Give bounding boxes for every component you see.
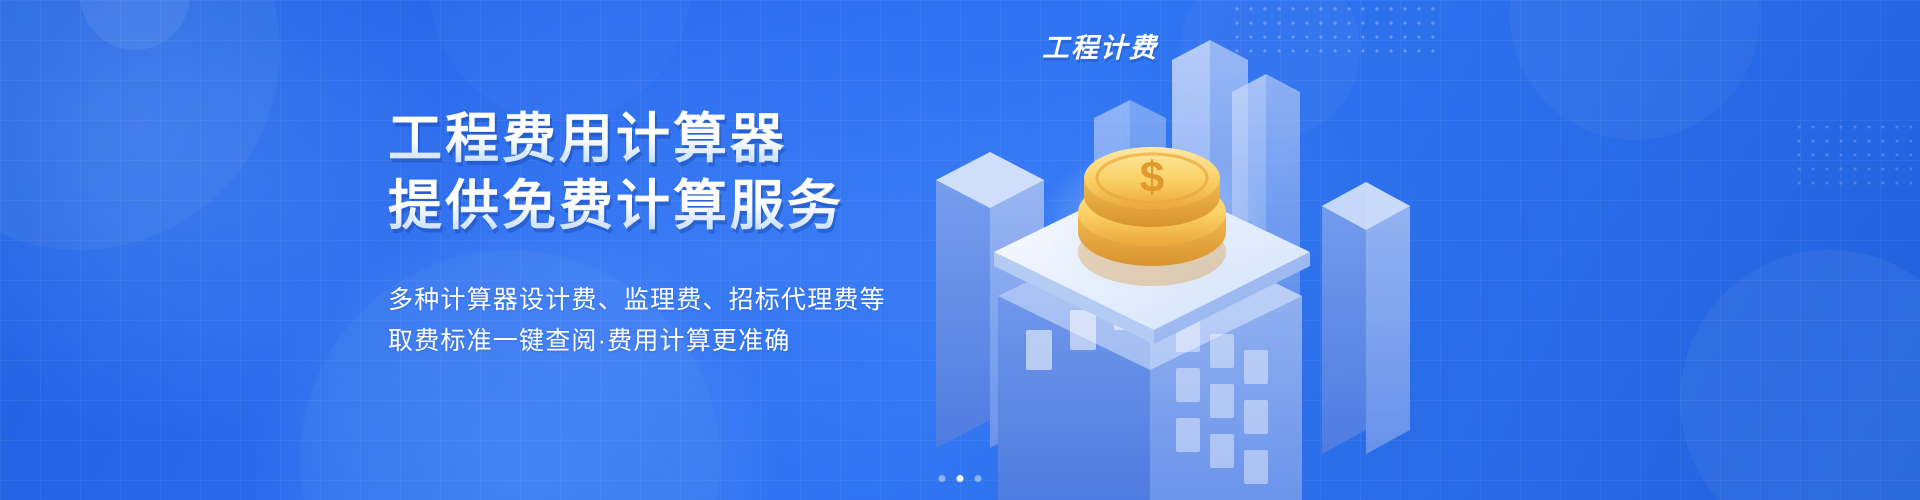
dollar-sign-icon: $ [1140, 153, 1164, 202]
right-tower [1322, 182, 1410, 454]
isometric-illustration: $ 工程计费 [880, 0, 1520, 500]
illustration-svg: $ [880, 0, 1520, 500]
carousel-dot-3[interactable] [975, 475, 982, 482]
illustration-badge-label: 工程计费 [1042, 26, 1158, 65]
promo-banner: 工程费用计算器 提供免费计算服务 多种计算器设计费、监理费、招标代理费等 取费标… [0, 0, 1920, 500]
dot-pattern [1792, 120, 1912, 190]
coin-stack: $ [1078, 147, 1226, 286]
carousel-dot-1[interactable] [939, 475, 946, 482]
carousel-dot-2[interactable] [957, 475, 964, 482]
carousel-indicators[interactable] [939, 475, 982, 482]
